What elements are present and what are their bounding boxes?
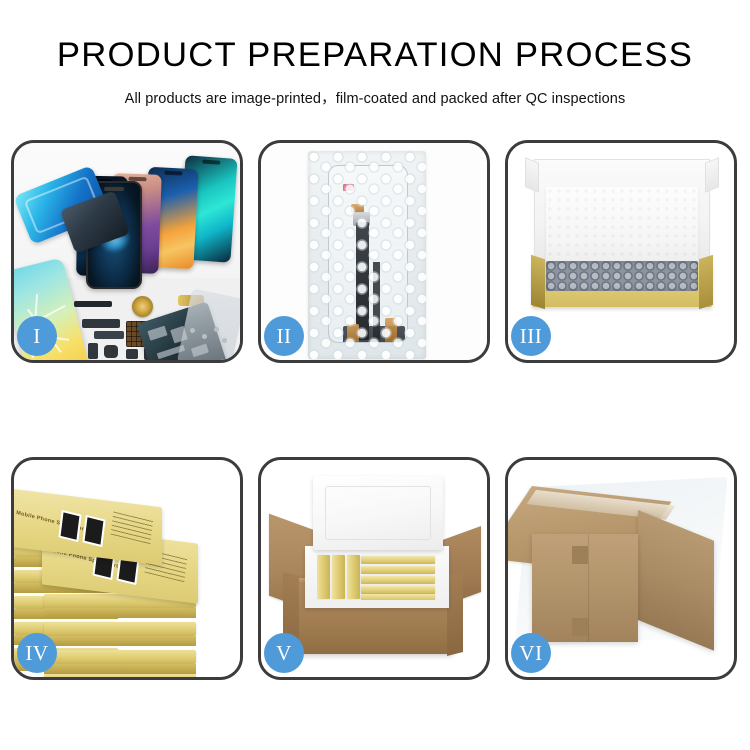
step-badge: V bbox=[264, 633, 304, 673]
gold-boxes-inside bbox=[317, 554, 437, 600]
panel-open-gold-box[interactable]: III bbox=[505, 140, 737, 363]
carton-front-face bbox=[532, 534, 638, 642]
panel-stacked-gold-boxes[interactable]: Mobile Phone Spare Parts Mobile Phone Sp… bbox=[11, 457, 243, 680]
panel-bubble-wrapped-screen[interactable]: II bbox=[258, 140, 490, 363]
page-title: PRODUCT PREPARATION PROCESS bbox=[0, 36, 750, 75]
step-badge: IV bbox=[17, 633, 57, 673]
process-grid: I bbox=[11, 140, 739, 680]
step-badge: III bbox=[511, 316, 551, 356]
panel-sealed-carton[interactable]: VI bbox=[505, 457, 737, 680]
foam-lid bbox=[313, 476, 443, 550]
foam-sheet bbox=[546, 187, 698, 267]
page-subtitle: All products are image-printed，film-coat… bbox=[0, 87, 750, 108]
panel-phone-parts[interactable]: I bbox=[11, 140, 243, 363]
process-row-1: I bbox=[11, 140, 739, 363]
step-badge: II bbox=[264, 316, 304, 356]
step-badge: I bbox=[17, 316, 57, 356]
panel-carton-with-foam[interactable]: V bbox=[258, 457, 490, 680]
process-row-2: Mobile Phone Spare Parts Mobile Phone Sp… bbox=[11, 457, 739, 680]
foam-liner bbox=[305, 546, 449, 608]
header: PRODUCT PREPARATION PROCESS All products… bbox=[0, 0, 750, 108]
gray-bubble-wrapped-part bbox=[546, 261, 698, 291]
step-badge: VI bbox=[511, 633, 551, 673]
screws-group bbox=[188, 326, 232, 346]
carton-side-right bbox=[447, 572, 463, 656]
bubble-texture bbox=[308, 151, 426, 359]
bubble-wrap-bag bbox=[308, 151, 426, 359]
product-preparation-infographic: PRODUCT PREPARATION PROCESS All products… bbox=[0, 0, 750, 750]
